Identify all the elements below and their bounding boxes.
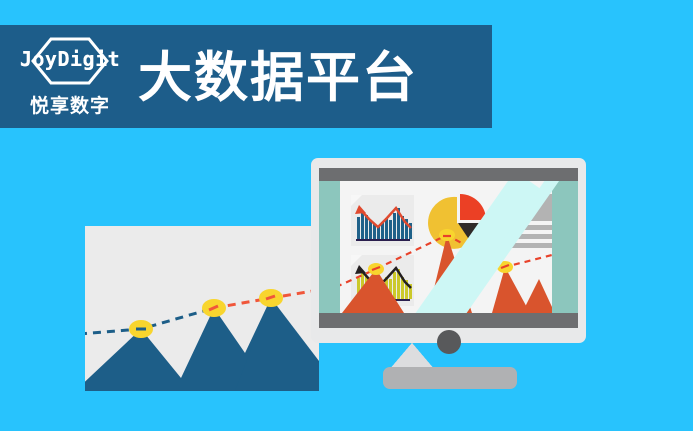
monitor-top-bezel (319, 168, 578, 181)
screen-right-panel (552, 181, 578, 313)
mountain-shape-blue-right (235, 298, 319, 391)
brand-subtitle: 悦享数字 (18, 91, 122, 118)
header-banner: JoyDigit 悦享数字 大数据平台 (0, 25, 492, 128)
blue-mountain-svg (85, 226, 319, 391)
screen-left-panel (319, 181, 340, 313)
poster-canvas: JoyDigit 悦享数字 大数据平台 (0, 0, 693, 431)
blue-mountain-area-chart (85, 226, 319, 391)
monitor-stand-base (383, 367, 517, 389)
monitor-screen (319, 181, 578, 313)
monitor-display (311, 158, 586, 343)
monitor-bottom-bezel (319, 313, 578, 328)
mountain-shape-orange-right (522, 279, 552, 313)
brand-wordmark: JoyDigit (18, 47, 122, 71)
page-title: 大数据平台 (138, 51, 418, 105)
power-button[interactable] (437, 330, 461, 354)
brand-logo: JoyDigit 悦享数字 (18, 33, 122, 121)
